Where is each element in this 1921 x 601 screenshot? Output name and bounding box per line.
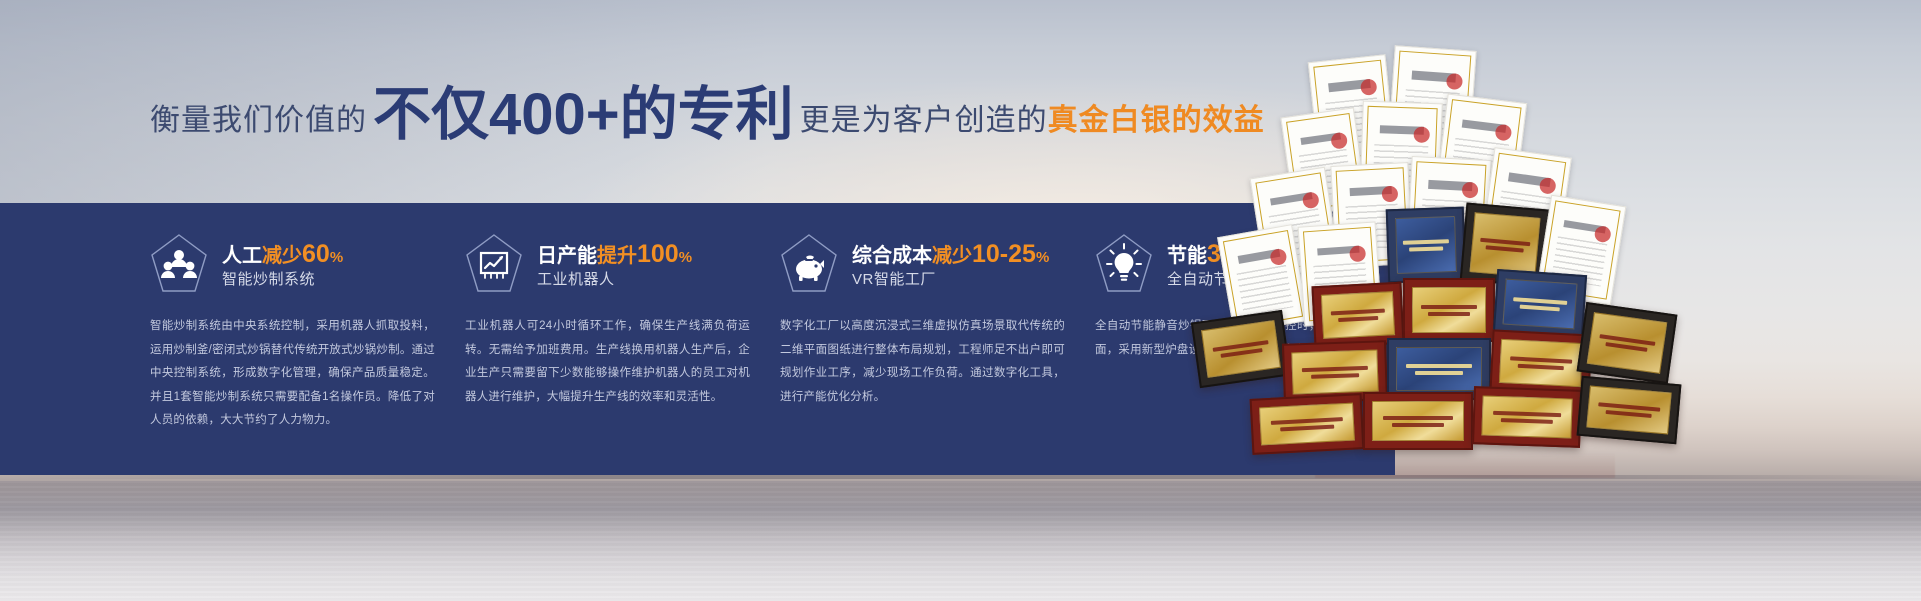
promo-banner: 衡量我们价值的 不仅400+的专利 更是为客户创造的 真金白银的效益: [0, 0, 1921, 601]
certificate-plate: [1499, 339, 1583, 387]
certificate-item: [1363, 392, 1473, 450]
certificate-seal-icon: [1269, 248, 1288, 267]
feature-card-3-title-accent: 减少: [932, 245, 972, 267]
feature-card-3-title: 综合成本减少10-25%: [852, 242, 1049, 267]
feature-card-1-subtitle: 智能炒制系统: [222, 272, 343, 287]
feature-card-2-title-unit: %: [679, 249, 692, 266]
feature-card-1[interactable]: 人工减少60% 智能炒制系统 智能炒制系统由中央系统控制，采用机器人抓取投料，运…: [150, 233, 465, 461]
certificate-item: [1577, 302, 1678, 384]
certificate-plate: [1586, 386, 1671, 435]
chart-board-icon: [465, 233, 523, 295]
certificate-seal-icon: [1539, 177, 1557, 195]
certificate-seal-icon: [1414, 126, 1431, 143]
certificate-plate: [1396, 347, 1482, 391]
headline-mid: 更是为客户创造的: [800, 106, 1048, 136]
certificate-plate: [1372, 401, 1464, 441]
feature-card-2-header: 日产能提升100% 工业机器人: [465, 233, 756, 295]
feature-card-1-body: 智能炒制系统由中央系统控制，采用机器人抓取投料，运用炒制釜/密闭式炒锅替代传统开…: [150, 315, 441, 433]
feature-card-3-header: 综合成本减少10-25% VR智能工厂: [780, 233, 1071, 295]
certificate-seal-icon: [1382, 186, 1399, 203]
piggy-bank-icon: [780, 233, 838, 295]
feature-card-1-title-accent: 减少: [262, 245, 302, 267]
feature-card-3-titles: 综合成本减少10-25% VR智能工厂: [852, 242, 1049, 287]
feature-card-2-title-prefix: 日产能: [537, 245, 597, 267]
certificate-plate: [1201, 320, 1281, 378]
feature-card-2-titles: 日产能提升100% 工业机器人: [537, 242, 692, 287]
feature-card-1-title-prefix: 人工: [222, 245, 262, 267]
feature-card-2-title: 日产能提升100%: [537, 242, 692, 267]
feature-card-list: 人工减少60% 智能炒制系统 智能炒制系统由中央系统控制，采用机器人抓取投料，运…: [150, 233, 1367, 461]
certificate-seal-icon: [1462, 182, 1479, 199]
headline-strong: 不仅400+的专利: [373, 86, 794, 144]
certificate-item: [1250, 393, 1365, 455]
certificate-plate: [1481, 395, 1572, 438]
feature-card-3-title-prefix: 综合成本: [852, 245, 932, 267]
certificates-collage: [1195, 40, 1921, 510]
certificate-item: [1577, 376, 1682, 444]
certificate-seal-icon: [1349, 245, 1366, 262]
feature-card-2-subtitle: 工业机器人: [537, 272, 692, 287]
certificate-plate: [1412, 287, 1486, 333]
certificate-item: [1493, 269, 1587, 339]
feature-card-2-body: 工业机器人可24小时循环工作，确保生产线满负荷运转。无需给予加班费用。生产线换用…: [465, 315, 756, 409]
certificate-plate: [1587, 312, 1668, 374]
feature-card-1-title: 人工减少60%: [222, 242, 343, 267]
certificate-seal-icon: [1495, 124, 1513, 142]
certificate-seal-icon: [1330, 131, 1348, 149]
certificate-item: [1403, 278, 1495, 342]
feature-card-2[interactable]: 日产能提升100% 工业机器人 工业机器人可24小时循环工作，确保生产线满负荷运…: [465, 233, 780, 461]
certificate-seal-icon: [1446, 73, 1463, 90]
feature-card-1-title-number: 60: [302, 240, 330, 268]
headline-lead: 衡量我们价值的: [150, 106, 367, 136]
feature-card-1-titles: 人工减少60% 智能炒制系统: [222, 242, 343, 287]
feature-card-2-title-accent: 提升: [597, 245, 637, 267]
people-group-icon: [150, 233, 208, 295]
feature-card-3-subtitle: VR智能工厂: [852, 272, 1049, 287]
feature-card-3-title-unit: %: [1036, 249, 1049, 266]
feature-panel: 人工减少60% 智能炒制系统 智能炒制系统由中央系统控制，采用机器人抓取投料，运…: [0, 203, 1395, 475]
lightbulb-icon: [1095, 233, 1153, 295]
certificate-plate: [1291, 350, 1378, 395]
certificate-plate: [1470, 212, 1541, 278]
certificate-item: [1191, 310, 1291, 388]
certificate-plate: [1395, 216, 1457, 274]
certificate-seal-icon: [1360, 79, 1378, 97]
certificate-item: [1386, 207, 1467, 284]
feature-card-1-header: 人工减少60% 智能炒制系统: [150, 233, 441, 295]
feature-card-1-title-unit: %: [330, 249, 343, 266]
feature-card-4-title-prefix: 节能: [1167, 245, 1207, 267]
page-title: 衡量我们价值的 不仅400+的专利 更是为客户创造的 真金白银的效益: [150, 82, 1265, 140]
certificate-plate: [1502, 279, 1577, 330]
certificate-text-lines: [1237, 265, 1294, 315]
certificate-plate: [1321, 291, 1395, 339]
certificate-item: [1472, 386, 1582, 448]
feature-card-3[interactable]: 综合成本减少10-25% VR智能工厂 数字化工厂以高度沉浸式三维虚拟仿真场景取…: [780, 233, 1095, 461]
feature-card-2-title-number: 100: [637, 240, 679, 268]
feature-card-3-title-number: 10-25: [972, 240, 1036, 268]
certificate-plate: [1259, 403, 1355, 446]
feature-card-3-body: 数字化工厂以高度沉浸式三维虚拟仿真场景取代传统的二维平面图纸进行整体布局规划，工…: [780, 315, 1071, 409]
